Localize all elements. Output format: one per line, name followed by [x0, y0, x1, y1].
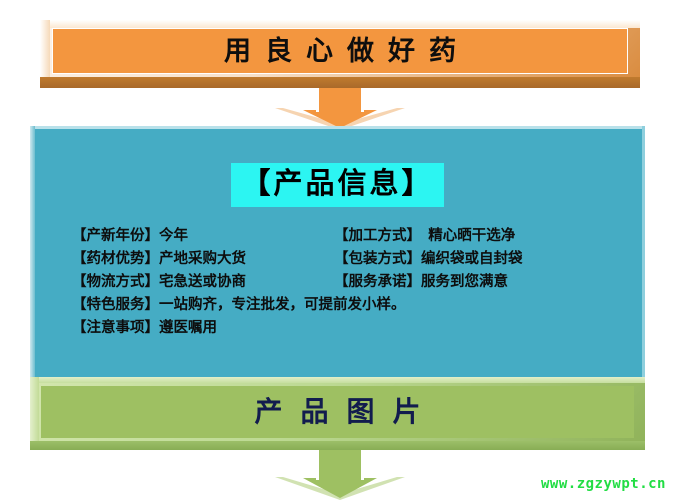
- header-banner-title: 用良心做好药: [210, 38, 470, 65]
- arrow-down-bottom: [275, 450, 405, 500]
- info-key: 【注意事项】: [72, 319, 159, 336]
- info-value: 服务到您满意: [421, 273, 508, 290]
- image-banner-bevel-left: [30, 377, 39, 450]
- info-key: 【产新年份】: [72, 227, 159, 244]
- product-info-list: 【产新年份】今年 【加工方式】 精心晒干选净 【药材优势】产地采购大货 【包装方…: [72, 224, 625, 339]
- header-banner-bevel-bottom: [40, 77, 640, 88]
- info-key: 【药材优势】: [72, 250, 159, 267]
- panel-edge-top: [30, 126, 645, 129]
- info-value: 一站购齐，专注批发，可提前发小样。: [159, 296, 406, 313]
- image-banner-title: 产品图片: [236, 398, 438, 426]
- info-key: 【特色服务】: [72, 296, 159, 313]
- info-cell-right: 【包装方式】编织袋或自封袋: [334, 247, 523, 270]
- info-value: 精心晒干选净: [414, 227, 516, 244]
- arrow-down-icon: [275, 88, 405, 130]
- info-cell-right: 【加工方式】 精心晒干选净: [334, 224, 515, 247]
- image-banner-inner: 产品图片: [41, 386, 634, 438]
- header-banner-inner: 用良心做好药: [52, 28, 628, 74]
- info-value: 今年: [159, 227, 188, 244]
- info-cell-full: 【特色服务】一站购齐，专注批发，可提前发小样。: [72, 293, 625, 316]
- info-value: 遵医嘱用: [159, 319, 217, 336]
- info-key: 【服务承诺】: [334, 273, 421, 290]
- info-value: 编织袋或自封袋: [421, 250, 523, 267]
- info-row: 【特色服务】一站购齐，专注批发，可提前发小样。: [72, 293, 625, 316]
- product-info-panel: 【产品信息】 【产新年份】今年 【加工方式】 精心晒干选净 【药材优势】产地采购…: [30, 126, 645, 378]
- header-banner: 用良心做好药: [40, 20, 640, 88]
- product-info-title-row: 【产品信息】: [30, 163, 645, 207]
- info-row: 【物流方式】宅急送或协商 【服务承诺】服务到您满意: [72, 270, 625, 293]
- info-cell-left: 【药材优势】产地采购大货: [72, 247, 334, 270]
- info-cell-right: 【服务承诺】服务到您满意: [334, 270, 508, 293]
- site-watermark: www.zgzywpt.cn: [541, 476, 666, 492]
- arrow-down-icon: [275, 450, 405, 500]
- info-key: 【物流方式】: [72, 273, 159, 290]
- info-value: 宅急送或协商: [159, 273, 246, 290]
- header-banner-bevel-top: [40, 20, 640, 28]
- info-row: 【注意事项】遵医嘱用: [72, 316, 625, 339]
- info-cell-full: 【注意事项】遵医嘱用: [72, 316, 625, 339]
- info-row: 【药材优势】产地采购大货 【包装方式】编织袋或自封袋: [72, 247, 625, 270]
- image-banner-bevel-top: [30, 377, 645, 383]
- product-info-title: 【产品信息】: [231, 163, 443, 207]
- info-cell-left: 【物流方式】宅急送或协商: [72, 270, 334, 293]
- page-canvas: 用良心做好药 【产品信息】 【产新年份】今年 【加工方式】 精心晒干选净 【药材…: [0, 0, 680, 500]
- info-key: 【加工方式】: [334, 227, 414, 244]
- info-row: 【产新年份】今年 【加工方式】 精心晒干选净: [72, 224, 625, 247]
- info-cell-left: 【产新年份】今年: [72, 224, 334, 247]
- info-key: 【包装方式】: [334, 250, 421, 267]
- image-banner: 产品图片: [30, 377, 645, 450]
- image-banner-bevel-bottom: [30, 441, 645, 450]
- arrow-down-top: [275, 88, 405, 130]
- info-value: 产地采购大货: [159, 250, 246, 267]
